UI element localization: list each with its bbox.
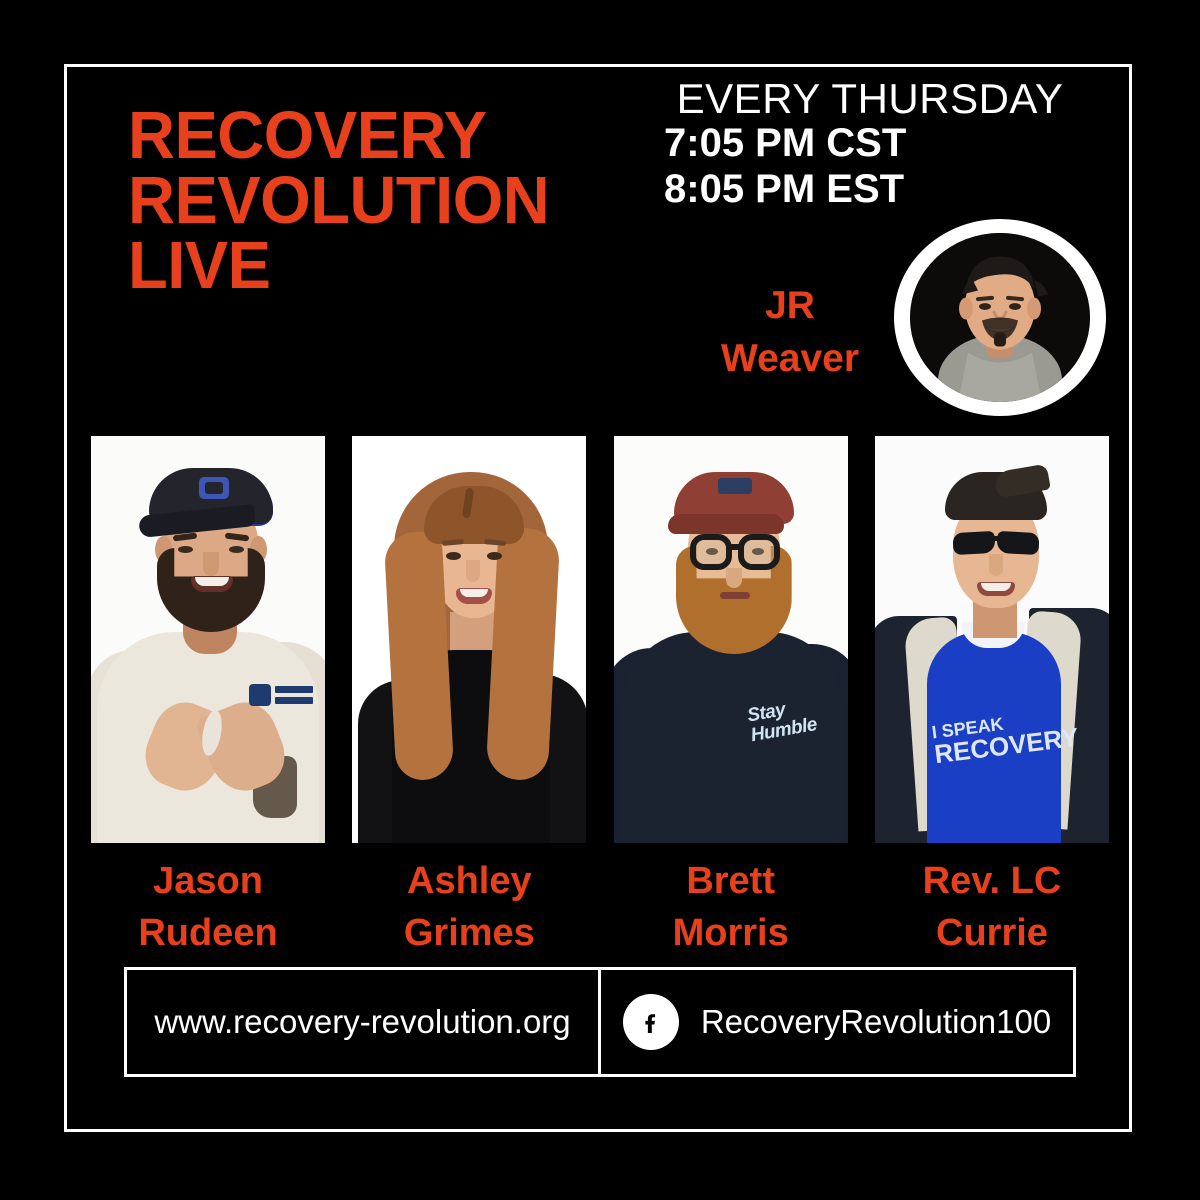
guest-photo-rev-lc-currie: I SPEAK RECOVERY: [875, 436, 1109, 843]
guest-first-name: Brett: [614, 855, 848, 907]
guest-photo-row: Stay Humble I SPEAK RECOVER: [91, 436, 1109, 843]
guest-photo-brett-morris: Stay Humble: [614, 436, 848, 843]
guest-first-name: Jason: [91, 855, 325, 907]
host-portrait-avatar: [910, 233, 1090, 402]
guest-photo-ashley-grimes: [352, 436, 586, 843]
guest-name-rev-lc-currie: Rev. LC Currie: [875, 855, 1109, 955]
schedule-time-est: 8:05 PM EST: [660, 167, 1080, 212]
title-line-3: LIVE: [128, 233, 671, 298]
facebook-handle[interactable]: RecoveryRevolution100: [701, 1003, 1051, 1041]
facebook-cell[interactable]: RecoveryRevolution100: [601, 970, 1073, 1074]
host-name: JR Weaver: [690, 280, 890, 385]
facebook-icon[interactable]: [623, 994, 679, 1050]
guest-photo-jason-rudeen: [91, 436, 325, 843]
website-cell[interactable]: www.recovery-revolution.org: [127, 970, 601, 1074]
guest-name-brett-morris: Brett Morris: [614, 855, 848, 955]
host-portrait-illustration: [910, 233, 1090, 402]
poster-canvas: RECOVERY REVOLUTION LIVE EVERY THURSDAY …: [0, 0, 1200, 1200]
guest-name-row: Jason Rudeen Ashley Grimes Brett Morris …: [91, 855, 1109, 955]
guest-name-ashley-grimes: Ashley Grimes: [352, 855, 586, 955]
guest-name-jason-rudeen: Jason Rudeen: [91, 855, 325, 955]
website-url[interactable]: www.recovery-revolution.org: [154, 1003, 570, 1041]
title-line-2: REVOLUTION: [128, 168, 671, 233]
page-title: RECOVERY REVOLUTION LIVE: [128, 103, 671, 298]
schedule-block: EVERY THURSDAY 7:05 PM CST 8:05 PM EST: [660, 76, 1080, 212]
host-first-name: JR: [690, 280, 890, 333]
schedule-day: EVERY THURSDAY: [660, 76, 1080, 121]
guest-last-name: Morris: [614, 907, 848, 959]
guest-last-name: Currie: [875, 907, 1109, 959]
guest-last-name: Rudeen: [91, 907, 325, 959]
title-line-1: RECOVERY: [128, 103, 671, 168]
schedule-time-cst: 7:05 PM CST: [660, 121, 1080, 166]
shirt-logo-against-the-odds: [249, 684, 313, 706]
guest-first-name: Ashley: [352, 855, 586, 907]
guest-last-name: Grimes: [352, 907, 586, 959]
footer-bar: www.recovery-revolution.org RecoveryRevo…: [124, 967, 1076, 1077]
guest-first-name: Rev. LC: [875, 855, 1109, 907]
avatar: [894, 219, 1106, 416]
host-last-name: Weaver: [690, 333, 890, 386]
